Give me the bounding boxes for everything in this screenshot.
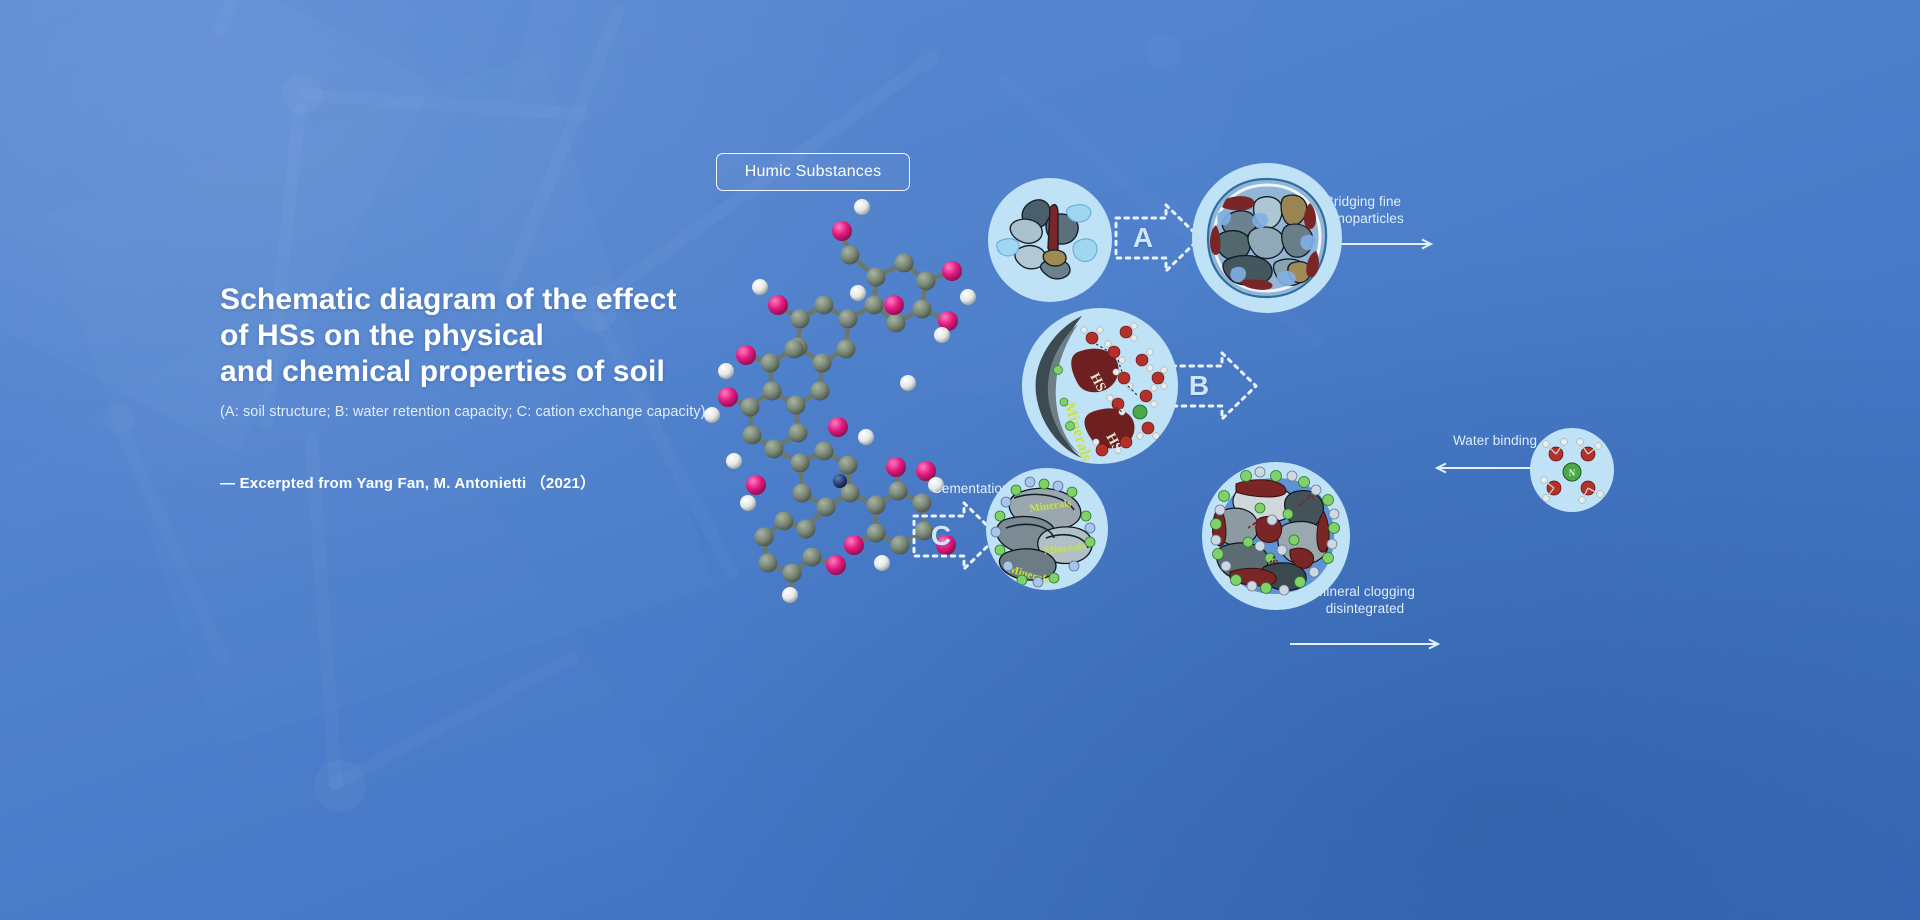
humic-substances-text: Humic Substances bbox=[745, 163, 882, 181]
arrow-letter-c: C bbox=[922, 520, 960, 552]
circle-soil-aggregate-loose bbox=[988, 178, 1112, 302]
poster-canvas: Schematic diagram of the effect of HSs o… bbox=[0, 0, 1920, 920]
circle-mineral-clogged-aggregate: Minerals Minerals Minerals bbox=[986, 468, 1108, 590]
svg-text:N: N bbox=[1569, 468, 1576, 478]
circle-hs-mineral-water-binding: Minerals HS HS bbox=[1022, 308, 1178, 464]
circle-cation-exchange-aggregate bbox=[1202, 462, 1350, 610]
circle-soil-aggregate-bridged bbox=[1192, 163, 1342, 313]
circle-water-molecules-cluster: N bbox=[1530, 428, 1614, 512]
arrow-block-a: A bbox=[1112, 200, 1204, 276]
arrow-letter-a: A bbox=[1124, 222, 1162, 254]
arrow-letter-b: B bbox=[1180, 370, 1218, 402]
flow-arrow-c bbox=[1290, 638, 1445, 648]
arrow-block-b: B bbox=[1168, 348, 1260, 424]
